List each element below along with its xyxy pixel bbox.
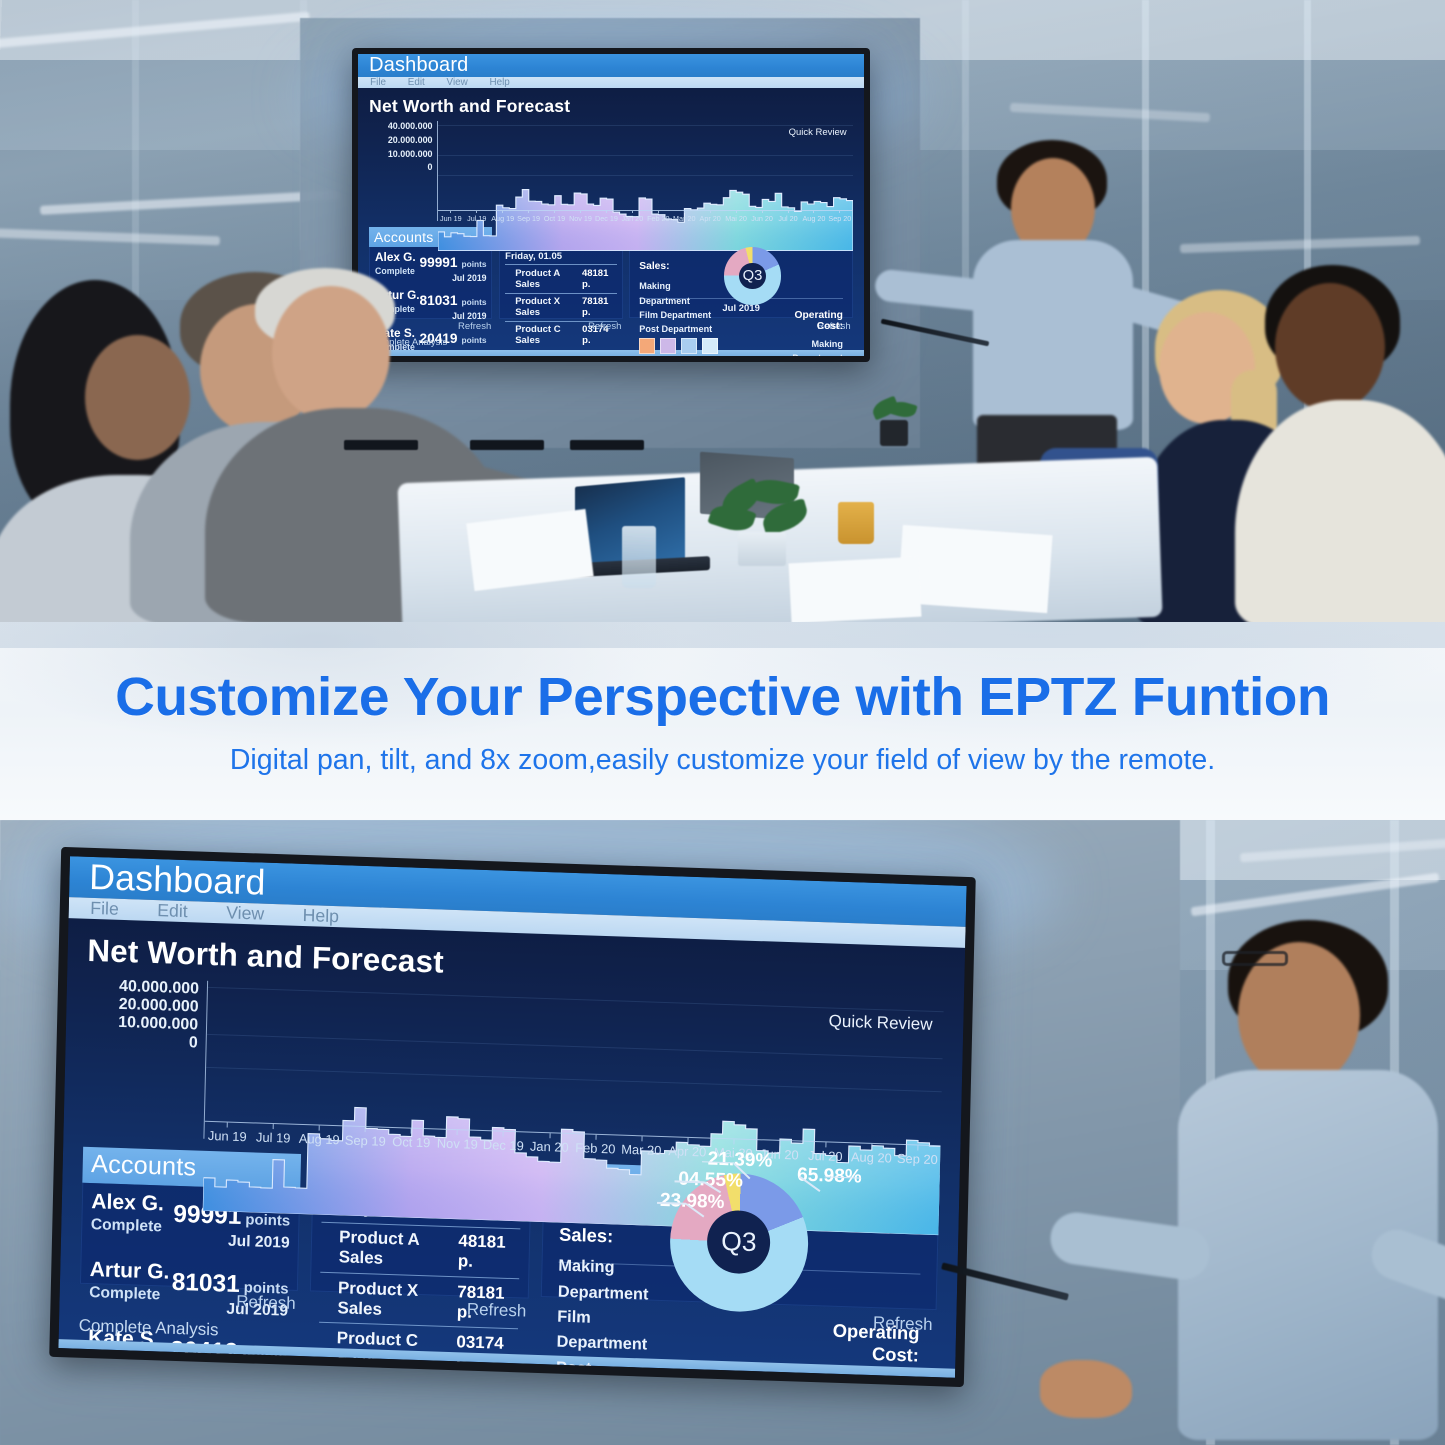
account-unit: points — [245, 1212, 290, 1230]
x-axis-tick: Sep 20 — [894, 1145, 940, 1163]
x-tick-label: Jun 20 — [751, 214, 773, 223]
activity-row[interactable]: Product A Sales48181 p. — [505, 264, 617, 292]
x-axis-tick: Nov 19 — [434, 1130, 480, 1148]
x-tick-label: Nov 19 — [437, 1135, 478, 1151]
x-tick-label: Sep 19 — [517, 214, 540, 223]
x-axis-tick: Mai 20 — [723, 211, 749, 221]
swatch-purple — [660, 338, 676, 354]
x-axis-tick: Sep 20 — [827, 211, 853, 221]
x-tick-label: Mar 20 — [673, 214, 695, 223]
presenter-hand — [1040, 1340, 1210, 1445]
donut-center-label: Q3 — [739, 263, 765, 289]
document-sheet — [789, 557, 922, 622]
activity-refresh[interactable]: Refresh — [499, 319, 622, 332]
coffee-mug — [838, 502, 874, 544]
x-tick-label: Mai 20 — [725, 214, 747, 223]
x-tick-label: Oct 19 — [544, 214, 565, 223]
activity-body: Friday, 01.05 Product A Sales48181 p. Pr… — [499, 247, 622, 319]
sales-label: Sales: — [559, 1223, 657, 1248]
x-axis-tick: Jul 20 — [802, 1142, 848, 1160]
x-axis-tick: Sep 19 — [342, 1127, 388, 1145]
x-tick-label: Jul 19 — [256, 1129, 291, 1145]
menubar-top: File Edit View Help — [358, 77, 864, 88]
operating-label: Operating Cost: — [787, 310, 843, 332]
x-tick-label: Jan 20 — [622, 214, 644, 223]
x-tick-label: Sep 20 — [828, 214, 851, 223]
swatch-lightblue — [702, 338, 718, 354]
activity-day: Friday, 01.05 — [505, 251, 617, 264]
menu-item-edit[interactable]: Edit — [408, 77, 425, 88]
table-microphone — [470, 440, 544, 450]
table-plant — [710, 480, 820, 570]
menu-item-file[interactable]: File — [90, 898, 119, 920]
donut-chart-top: Q3 — [718, 257, 786, 294]
area-series — [438, 121, 853, 251]
x-axis-tick: Nov 19 — [568, 211, 594, 221]
x-tick-label: Jun 19 — [440, 214, 462, 223]
sales-dept: Post Department — [639, 322, 718, 336]
y-tick: 0 — [189, 1034, 198, 1052]
sales-legend-bottom: Sales: Making Department Film Department… — [559, 1216, 658, 1260]
titlebar-top: Dashboard — [358, 54, 864, 77]
income-body: Sales: Making Department Film Department… — [629, 250, 853, 318]
x-axis-tick: Oct 19 — [388, 1128, 434, 1146]
x-tick-label: Jul 20 — [808, 1147, 843, 1163]
x-tick-label: Jan 20 — [530, 1138, 569, 1154]
account-name: Alex G. — [375, 251, 416, 266]
x-axis-tick: Aug 19 — [296, 1125, 342, 1143]
bottom-photo-panel: Dashboard File Edit View Help Net Worth … — [0, 820, 1445, 1445]
plot-area: Quick Review — [437, 121, 853, 220]
net-worth-chart-top: 40.000.000 20.000.000 10.000.000 0 Quick… — [369, 121, 853, 220]
top-photo-panel: Dashboard File Edit View Help Net Worth … — [0, 0, 1445, 622]
small-plant — [868, 400, 920, 448]
account-name: Artur G. — [89, 1257, 169, 1286]
x-tick-label: Jul 20 — [778, 214, 797, 223]
x-axis-tick: Apr 20 — [664, 1138, 710, 1156]
x-tick-label: Aug 20 — [802, 214, 825, 223]
swatch-orange — [639, 338, 655, 354]
accounts-title: Accounts — [374, 229, 433, 245]
swatch-blue — [681, 338, 697, 354]
op-dept: Making Department — [787, 337, 843, 356]
sales-dept: Film Department — [639, 308, 718, 322]
x-axis-tick: Sep 19 — [516, 211, 542, 221]
sales-dept: Making Department — [558, 1254, 657, 1308]
y-tick: 0 — [428, 162, 433, 172]
operating-label: Operating Cost: — [818, 1319, 920, 1366]
donut-chart-bottom: Q3 21.39% 04.55% 23.98% — [656, 1219, 821, 1265]
sales-label: Sales: — [639, 261, 718, 272]
operating-cost-legend: Operating Cost: Making Department Film D… — [787, 257, 843, 310]
wall-display-bottom: Dashboard File Edit View Help Net Worth … — [49, 847, 976, 1387]
x-axis-tick: Jun 20 — [749, 211, 775, 221]
x-tick-label: Dec 19 — [595, 214, 618, 223]
x-axis-tick: Oct 19 — [542, 211, 568, 221]
y-tick: 10.000.000 — [118, 1014, 198, 1035]
x-tick-label: Jul 19 — [467, 214, 486, 223]
subline-text: Digital pan, tilt, and 8x zoom,easily cu… — [230, 744, 1215, 777]
sales-dept: Making Department — [639, 279, 718, 307]
window-mullion — [132, 0, 139, 300]
x-tick-label: Aug 19 — [491, 214, 514, 223]
menu-item-help[interactable]: Help — [302, 905, 339, 927]
x-axis-tick: Jul 19 — [250, 1124, 296, 1142]
x-axis-tick: Jan 20 — [526, 1133, 572, 1151]
activity-item-value: 48181 p. — [458, 1232, 521, 1274]
app-title-bottom: Dashboard — [89, 857, 266, 904]
legend-swatches — [639, 336, 718, 354]
x-axis-tick: Jan 20 — [619, 211, 645, 221]
operating-cost-legend-bottom: Operating Cost: Making Department Film D… — [819, 1225, 922, 1323]
display-screen-bottom: Dashboard File Edit View Help Net Worth … — [58, 856, 966, 1378]
x-axis-top: Jun 19Jul 19Aug 19Sep 19Oct 19Nov 19Dec … — [438, 210, 853, 221]
document-sheet — [466, 509, 593, 591]
glasses-icon — [1222, 951, 1288, 966]
x-tick-label: Apr 20 — [700, 214, 721, 223]
x-tick-label: Dec 19 — [483, 1137, 524, 1153]
y-axis-labels-bottom: 40.000.000 20.000.000 10.000.000 0 — [83, 977, 207, 1139]
x-axis-tick: Dec 19 — [480, 1131, 526, 1149]
headline-band: Customize Your Perspective with EPTZ Fun… — [0, 622, 1445, 820]
x-axis-tick: Feb 20 — [645, 211, 671, 221]
person-seated-5 — [1255, 265, 1445, 622]
y-tick: 20.000.000 — [388, 135, 433, 145]
x-axis-tick: Jun 19 — [204, 1122, 250, 1140]
activity-row[interactable]: Product X Sales78181 p. — [505, 293, 617, 321]
x-tick-label: Feb 20 — [647, 214, 669, 223]
sales-dept: Film Department — [556, 1305, 655, 1359]
x-tick-label: Mar 20 — [621, 1141, 662, 1157]
complete-analysis-link-bottom[interactable]: Complete Analysis — [78, 1316, 218, 1341]
x-axis-tick: Dec 19 — [593, 211, 619, 221]
account-name: Alex G. — [91, 1189, 164, 1218]
x-axis-tick: Mar 20 — [671, 211, 697, 221]
list-item[interactable]: Product A Sales48181 p. — [320, 1221, 520, 1278]
area-series-bottom — [202, 981, 944, 1236]
menu-item-view[interactable]: View — [226, 902, 264, 924]
dashboard-app-bottom: Dashboard File Edit View Help Net Worth … — [58, 856, 966, 1378]
net-worth-chart-bottom: 40.000.000 20.000.000 10.000.000 0 Quick… — [83, 977, 944, 1163]
app-title: Dashboard — [369, 54, 468, 77]
account-status: Complete — [91, 1216, 164, 1236]
account-date: Jul 2019 — [173, 1231, 290, 1253]
y-axis-labels: 40.000.000 20.000.000 10.000.000 0 — [369, 121, 437, 220]
donut-center-label: Q3 — [706, 1209, 771, 1274]
x-tick-label: Jun 19 — [208, 1128, 247, 1144]
x-axis-tick: Jul 19 — [464, 211, 490, 221]
x-axis-tick: Aug 20 — [848, 1144, 894, 1162]
x-tick-label: Sep 20 — [897, 1150, 938, 1166]
plot-area-bottom: Quick Review — [203, 981, 944, 1163]
x-axis-tick: Aug 20 — [801, 211, 827, 221]
menu-item-view[interactable]: View — [447, 77, 468, 88]
activity-item-name: Product A Sales — [321, 1227, 459, 1272]
x-tick-label: Feb 20 — [575, 1140, 616, 1156]
x-tick-label: Aug 19 — [299, 1131, 340, 1147]
x-axis-tick: Jun 19 — [438, 211, 464, 221]
x-axis-tick: Apr 20 — [697, 211, 723, 221]
x-tick-label: Nov 19 — [569, 214, 592, 223]
chart-title: Net Worth and Forecast — [369, 96, 853, 117]
table-microphone — [570, 440, 644, 450]
document-sheet — [897, 525, 1052, 613]
headline-text: Customize Your Perspective with EPTZ Fun… — [115, 666, 1330, 728]
water-glass — [622, 526, 656, 588]
x-axis-tick: Jul 20 — [775, 211, 801, 221]
menu-item-help[interactable]: Help — [489, 77, 509, 88]
x-tick-label: Oct 19 — [392, 1134, 430, 1150]
accounts-title: Accounts — [91, 1150, 197, 1182]
x-tick-label: Aug 20 — [851, 1149, 892, 1165]
y-tick: 10.000.000 — [388, 149, 433, 159]
x-tick-label: Apr 20 — [668, 1143, 706, 1159]
x-axis-tick: Aug 19 — [490, 211, 516, 221]
menu-item-file[interactable]: File — [370, 77, 386, 88]
dashboard-body-bottom: Net Worth and Forecast 40.000.000 20.000… — [59, 918, 965, 1341]
table-microphone — [344, 440, 418, 450]
x-tick-label: Sep 19 — [345, 1132, 386, 1148]
sales-legend: Sales: Making Department Film Department… — [639, 257, 718, 294]
menu-item-edit[interactable]: Edit — [157, 900, 188, 922]
x-axis-tick: Feb 20 — [572, 1134, 618, 1152]
x-axis-tick: Mar 20 — [618, 1136, 664, 1154]
y-tick: 40.000.000 — [388, 121, 433, 131]
